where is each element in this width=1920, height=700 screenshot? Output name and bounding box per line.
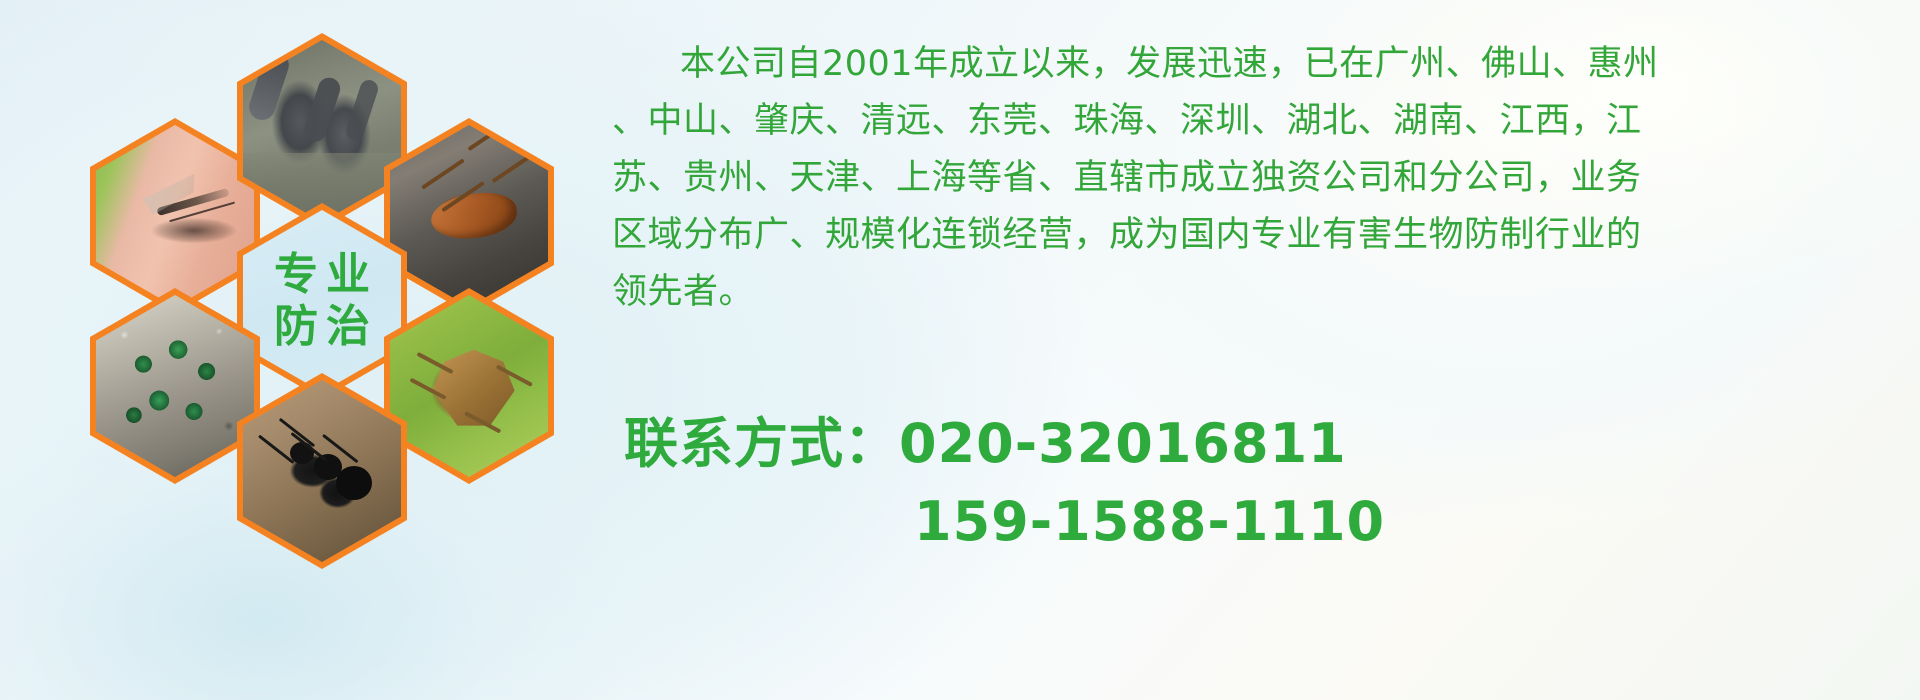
cockroach-image xyxy=(390,125,548,307)
description-line-3: 苏、贵州、天津、上海等省、直辖市成立独资公司和分公司，业务 xyxy=(612,150,1912,207)
contact-phone-primary[interactable]: 联系方式：020-32016811 xyxy=(624,405,1914,483)
stinkbug-image xyxy=(390,295,548,477)
ant-photo xyxy=(243,380,401,562)
stinkbug-photo-hexagon[interactable] xyxy=(384,288,554,484)
cockroach-photo xyxy=(390,125,548,307)
mosquito-photo xyxy=(96,125,254,307)
mosquito-photo-hexagon[interactable] xyxy=(90,118,260,314)
pest-control-banner: 专业 防治 本公司自2001年成立以来，发展迅速，已在广州、佛山、惠州 、中山、… xyxy=(0,0,1920,700)
slogan-line-2: 防治 xyxy=(266,304,378,350)
contact-phone-secondary[interactable]: 159-1588-1110 xyxy=(624,483,1914,561)
ant-image xyxy=(243,380,401,562)
stinkbug-photo xyxy=(390,295,548,477)
description-line-2: 、中山、肇庆、清远、东莞、珠海、深圳、湖北、湖南、江西，江 xyxy=(612,93,1912,150)
ant-photo-hexagon[interactable] xyxy=(237,373,407,569)
rats-image xyxy=(243,40,401,222)
flies-image xyxy=(96,295,254,477)
hexagon-photo-cluster: 专业 防治 xyxy=(90,8,590,568)
contact-information: 联系方式：020-32016811 159-1588-1110 xyxy=(624,405,1914,561)
description-line-5: 领先者。 xyxy=(612,264,1912,321)
slogan-line-1: 专业 xyxy=(266,252,378,298)
slogan-hexagon: 专业 防治 xyxy=(237,203,407,399)
description-line-1: 本公司自2001年成立以来，发展迅速，已在广州、佛山、惠州 xyxy=(612,36,1912,93)
company-description: 本公司自2001年成立以来，发展迅速，已在广州、佛山、惠州 、中山、肇庆、清远、… xyxy=(612,36,1912,321)
flies-photo xyxy=(96,295,254,477)
flies-photo-hexagon[interactable] xyxy=(90,288,260,484)
mosquito-image xyxy=(96,125,254,307)
rats-photo xyxy=(243,40,401,222)
description-line-4: 区域分布广、规模化连锁经营，成为国内专业有害生物防制行业的 xyxy=(612,207,1912,264)
cockroach-photo-hexagon[interactable] xyxy=(384,118,554,314)
rats-photo-hexagon[interactable] xyxy=(237,33,407,229)
slogan-hexagon-inner: 专业 防治 xyxy=(243,210,401,392)
